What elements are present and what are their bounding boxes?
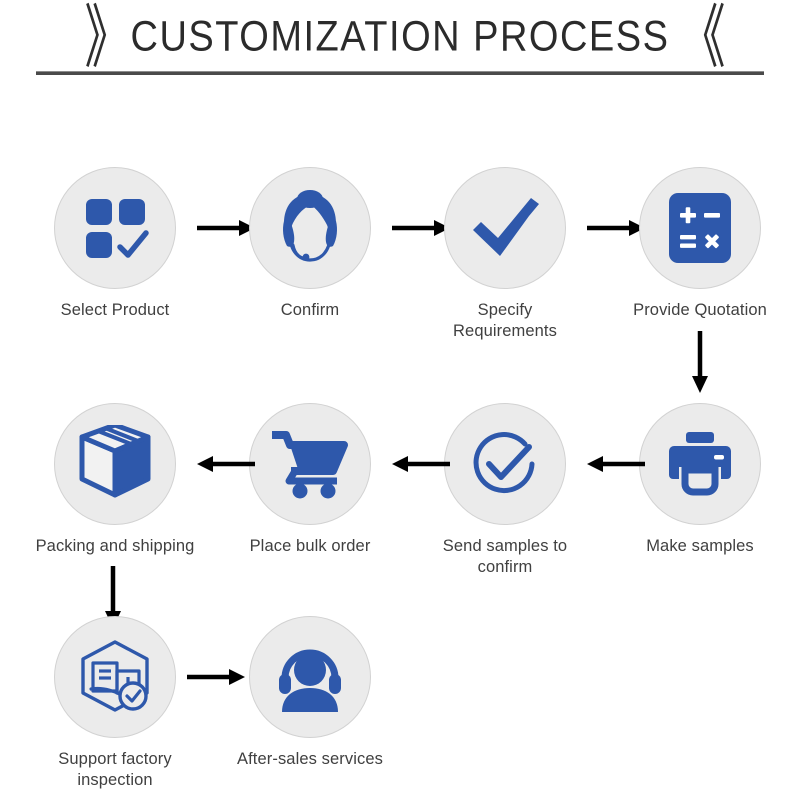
step-label: Packing and shipping — [35, 536, 195, 557]
step-label: Place bulk order — [230, 536, 390, 557]
step-icon-bubble — [444, 167, 566, 289]
package-box-icon — [76, 425, 154, 503]
step-icon-bubble — [444, 403, 566, 525]
chevron-right-decor-icon: 》 — [85, 3, 121, 72]
step-icon-bubble — [249, 403, 371, 525]
step-label: Confirm — [230, 300, 390, 321]
arrow-left-3 — [197, 454, 255, 474]
shopping-cart-icon — [272, 429, 348, 499]
headset-person-icon — [272, 642, 348, 712]
step-provide-quotation[interactable]: Provide Quotation — [620, 167, 780, 321]
step-label: After-sales services — [230, 749, 390, 770]
step-select-product[interactable]: Select Product — [35, 167, 195, 321]
step-label: Provide Quotation — [620, 300, 780, 321]
step-icon-bubble — [639, 167, 761, 289]
calculator-icon — [667, 191, 733, 265]
diagram-header: 》 CUSTOMIZATION PROCESS 《 — [0, 0, 800, 95]
title-divider — [36, 71, 764, 75]
step-label: Make samples — [620, 536, 780, 557]
step-icon-bubble — [54, 616, 176, 738]
step-send-samples[interactable]: Send samples to confirm — [425, 403, 585, 577]
step-label: Select Product — [35, 300, 195, 321]
grid-check-icon — [80, 193, 150, 263]
step-label: Specify Requirements — [425, 300, 585, 341]
step-label: Send samples to confirm — [425, 536, 585, 577]
step-place-bulk-order[interactable]: Place bulk order — [230, 403, 390, 557]
step-icon-bubble — [54, 167, 176, 289]
customization-process-diagram: 》 CUSTOMIZATION PROCESS 《 Select Product — [0, 0, 800, 800]
chevron-left-decor-icon: 《 — [679, 3, 715, 72]
title-row: 》 CUSTOMIZATION PROCESS 《 — [0, 8, 800, 66]
printer-icon — [664, 430, 736, 498]
step-label: Support factory inspection — [35, 749, 195, 790]
factory-shield-check-icon — [77, 639, 153, 715]
step-icon-bubble — [249, 616, 371, 738]
arrow-left-1 — [587, 454, 645, 474]
step-after-sales[interactable]: After-sales services — [230, 616, 390, 770]
arrow-down-right — [690, 331, 710, 393]
step-packing-shipping[interactable]: Packing and shipping — [35, 403, 195, 557]
circle-check-icon — [467, 426, 543, 502]
support-agent-icon — [271, 189, 349, 267]
step-support-inspection[interactable]: Support factory inspection — [35, 616, 195, 790]
arrow-left-2 — [392, 454, 450, 474]
step-make-samples[interactable]: Make samples — [620, 403, 780, 557]
checkmark-icon — [467, 190, 543, 266]
step-icon-bubble — [639, 403, 761, 525]
step-confirm[interactable]: Confirm — [230, 167, 390, 321]
step-icon-bubble — [54, 403, 176, 525]
step-icon-bubble — [249, 167, 371, 289]
page-title: CUSTOMIZATION PROCESS — [131, 13, 670, 61]
step-specify-requirements[interactable]: Specify Requirements — [425, 167, 585, 341]
